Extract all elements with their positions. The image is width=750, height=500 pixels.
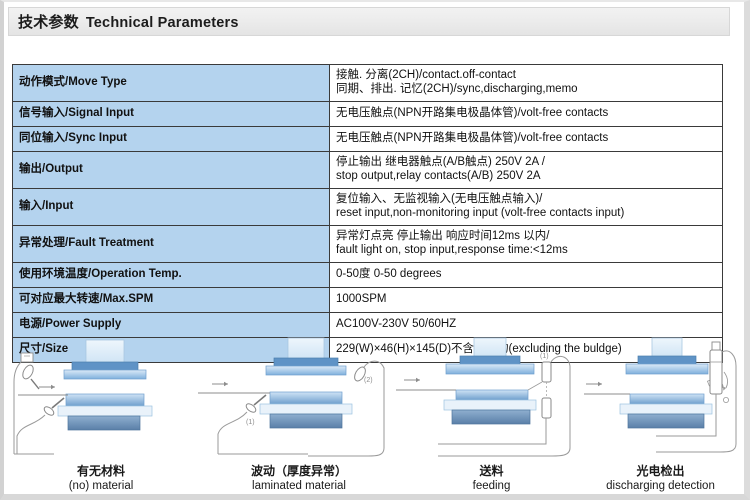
page-header-bar: 技术参数Technical Parameters: [8, 7, 730, 36]
caption-feeding: 送料 feeding: [404, 464, 579, 498]
specification-table: 动作模式/Move Type 接触. 分离(2CH)/contact.off-c…: [12, 64, 723, 363]
page-title-en: Technical Parameters: [79, 15, 239, 31]
table-row: 输入/Input 复位输入、无监视输入(无电压触点输入)/ reset inpu…: [13, 189, 723, 226]
table-row: 可对应最大转速/Max.SPM 1000SPM: [13, 288, 723, 313]
spec-value: 复位输入、无监视输入(无电压触点输入)/ reset input,non-mon…: [330, 189, 723, 226]
spec-label: 信号输入/Signal Input: [13, 102, 330, 127]
spec-label: 输入/Input: [13, 189, 330, 226]
caption-laminated-material: 波动（厚度异常） laminated material: [194, 464, 404, 498]
specification-table-body: 动作模式/Move Type 接触. 分离(2CH)/contact.off-c…: [13, 65, 723, 363]
spec-value: 无电压触点(NPN开路集电极晶体管)/volt-free contacts: [330, 127, 723, 152]
spec-value: 接触. 分离(2CH)/contact.off-contact 同期、排出. 记…: [330, 65, 723, 102]
table-row: 信号输入/Signal Input 无电压触点(NPN开路集电极晶体管)/vol…: [13, 102, 723, 127]
caption-no-material: 有无材料 (no) material: [8, 464, 194, 498]
spec-label: 使用环境温度/Operation Temp.: [13, 263, 330, 288]
spec-value: 1000SPM: [330, 288, 723, 313]
svg-text:(1): (1): [246, 419, 255, 426]
spec-value: 0-50度 0-50 degrees: [330, 263, 723, 288]
page-title: 技术参数Technical Parameters: [9, 11, 239, 32]
spec-value: 无电压触点(NPN开路集电极晶体管)/volt-free contacts: [330, 102, 723, 127]
caption-cn: 光电检出: [579, 464, 742, 479]
svg-text:(2): (2): [364, 377, 373, 384]
page-title-cn: 技术参数: [18, 14, 79, 31]
table-row: 异常处理/Fault Treatment 异常灯点亮 停止输出 响应时间12ms…: [13, 226, 723, 263]
table-row: 使用环境温度/Operation Temp. 0-50度 0-50 degree…: [13, 263, 723, 288]
spec-label: 异常处理/Fault Treatment: [13, 226, 330, 263]
spec-label: 同位输入/Sync Input: [13, 127, 330, 152]
feeding-diagram: (1): [396, 338, 570, 456]
caption-en: discharging detection: [579, 479, 742, 494]
caption-cn: 有无材料: [8, 464, 194, 479]
discharging-detection-diagram: [584, 338, 736, 452]
spec-value: 异常灯点亮 停止输出 响应时间12ms 以内/ fault light on, …: [330, 226, 723, 263]
table-row: 同位输入/Sync Input 无电压触点(NPN开路集电极晶体管)/volt-…: [13, 127, 723, 152]
caption-en: laminated material: [194, 479, 404, 494]
laminated-material-diagram: (1) (2): [198, 338, 384, 456]
caption-cn: 波动（厚度异常）: [194, 464, 404, 479]
spec-value: 停止输出 继电器触点(A/B触点) 250V 2A / stop output,…: [330, 152, 723, 189]
no-material-diagram: [14, 340, 152, 454]
caption-en: (no) material: [8, 479, 194, 494]
spec-label: 输出/Output: [13, 152, 330, 189]
table-row: 动作模式/Move Type 接触. 分离(2CH)/contact.off-c…: [13, 65, 723, 102]
technical-parameters-page: 技术参数Technical Parameters 动作模式/Move Type …: [0, 0, 750, 500]
caption-cn: 送料: [404, 464, 579, 479]
illustration-captions: 有无材料 (no) material 波动（厚度异常） laminated ma…: [8, 464, 742, 498]
caption-discharging-detection: 光电检出 discharging detection: [579, 464, 742, 498]
table-row: 输出/Output 停止输出 继电器触点(A/B触点) 250V 2A / st…: [13, 152, 723, 189]
svg-text:(1): (1): [540, 353, 549, 360]
spec-label: 动作模式/Move Type: [13, 65, 330, 102]
spec-label: 可对应最大转速/Max.SPM: [13, 288, 330, 313]
caption-en: feeding: [404, 479, 579, 494]
